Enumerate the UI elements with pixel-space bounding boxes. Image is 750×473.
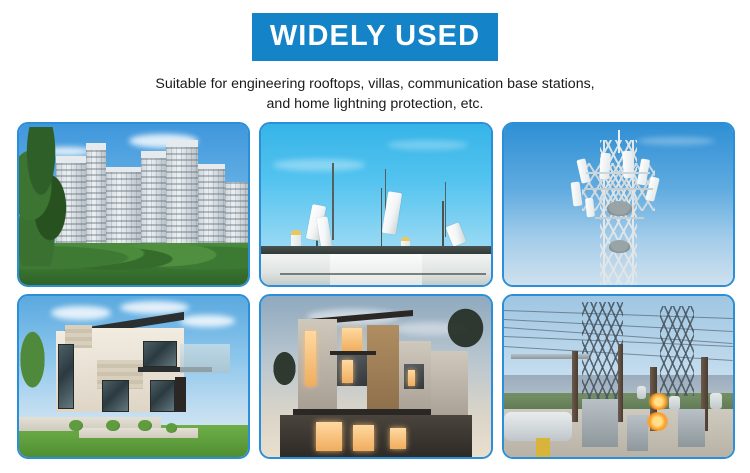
subtitle: Suitable for engineering rooftops, villa… [0, 74, 750, 114]
page-title: WIDELY USED [252, 13, 498, 61]
photo-power-substation [504, 296, 733, 457]
gallery-item-rooftop-antennas[interactable] [259, 122, 492, 287]
widely-used-banner-page: WIDELY USED Suitable for engineering roo… [0, 0, 750, 473]
subtitle-line-1: Suitable for engineering rooftops, villa… [90, 74, 660, 94]
subtitle-line-2: and home lightning protection, etc. [90, 94, 660, 114]
photo-modern-villa-dusk [261, 296, 490, 457]
photo-rooftop-antennas [261, 124, 490, 285]
header: WIDELY USED Suitable for engineering roo… [0, 0, 750, 114]
gallery-item-modern-villa-day[interactable] [17, 294, 250, 459]
application-image-gallery [17, 122, 735, 459]
photo-high-rise-apartments [19, 124, 248, 285]
photo-cell-tower [504, 124, 733, 285]
gallery-item-high-rise-apartments[interactable] [17, 122, 250, 287]
gallery-item-modern-villa-dusk[interactable] [259, 294, 492, 459]
photo-modern-villa-day [19, 296, 248, 457]
gallery-item-power-substation[interactable] [502, 294, 735, 459]
gallery-item-cell-tower[interactable] [502, 122, 735, 287]
